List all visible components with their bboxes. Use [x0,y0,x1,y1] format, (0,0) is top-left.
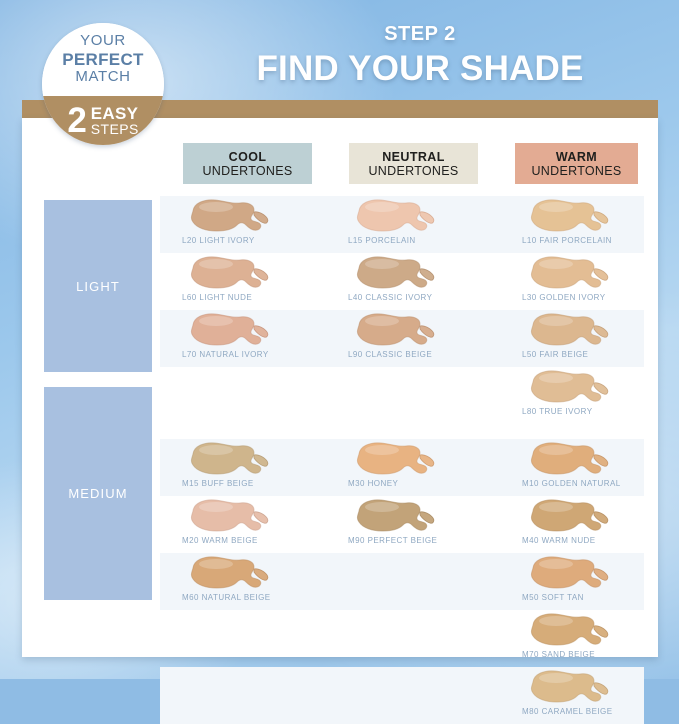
shade-cell: M70 SAND BEIGE [514,610,666,667]
shade-cell: M20 WARM BEIGE [182,496,334,553]
shade-name-label: M30 HONEY [348,479,488,488]
shade-name-label: L10 FAIR PORCELAIN [522,236,662,245]
shade-name-label: M50 SOFT TAN [522,593,662,602]
shade-cell: L70 NATURAL IVORY [182,310,334,367]
shade-cell-empty [182,610,334,667]
shade-name-label: M70 SAND BEIGE [522,650,662,659]
shade-cell: L40 CLASSIC IVORY [348,253,500,310]
shade-cell: L50 FAIR BEIGE [514,310,666,367]
shade-swatch-icon[interactable] [348,498,444,534]
shade-section-medium: M15 BUFF BEIGEM30 HONEYM10 GOLDEN NATURA… [160,439,644,724]
shade-swatch-icon[interactable] [522,369,618,405]
shade-cell: L30 GOLDEN IVORY [514,253,666,310]
shade-cell: L20 LIGHT IVORY [182,196,334,253]
shade-cell: M80 CARAMEL BEIGE [514,667,666,724]
shade-cell: L80 TRUE IVORY [514,367,666,424]
shade-cell-empty [348,610,500,667]
undertone-header-neutral: NEUTRAL UNDERTONES [349,143,478,184]
shade-swatch-icon[interactable] [182,255,278,291]
shade-cell: M40 WARM NUDE [514,496,666,553]
title-block: STEP 2 FIND YOUR SHADE [180,24,660,88]
shade-name-label: M15 BUFF BEIGE [182,479,322,488]
shade-grid: L20 LIGHT IVORYL15 PORCELAINL10 FAIR POR… [160,196,644,724]
undertone-header-warm: WARM UNDERTONES [515,143,638,184]
shade-name-label: M10 GOLDEN NATURAL [522,479,662,488]
step-label: STEP 2 [180,24,660,44]
badge-top-half: YOUR PERFECT MATCH [42,23,164,96]
shade-name-label: M40 WARM NUDE [522,536,662,545]
shade-cell: M15 BUFF BEIGE [182,439,334,496]
shade-swatch-icon[interactable] [522,498,618,534]
undertone-name-warm: WARM [556,150,597,164]
badge-step-number: 2 [67,103,86,138]
shade-cell-empty [182,667,334,724]
shade-cell: L90 CLASSIC BEIGE [348,310,500,367]
shade-cell: M10 GOLDEN NATURAL [514,439,666,496]
shade-cell: M90 PERFECT BEIGE [348,496,500,553]
perfect-match-badge: YOUR PERFECT MATCH 2 EASY STEPS [42,23,164,145]
shade-swatch-icon[interactable] [348,255,444,291]
shade-name-label: L30 GOLDEN IVORY [522,293,662,302]
shade-name-label: L15 PORCELAIN [348,236,488,245]
badge-bottom-half: 2 EASY STEPS [42,96,164,145]
shade-swatch-icon[interactable] [522,555,618,591]
shade-swatch-icon[interactable] [522,198,618,234]
shade-cell: L10 FAIR PORCELAIN [514,196,666,253]
shade-cell: M30 HONEY [348,439,500,496]
shade-swatch-icon[interactable] [522,441,618,477]
shade-swatch-icon[interactable] [182,498,278,534]
badge-steps-stack: EASY STEPS [91,105,139,137]
shade-name-label: L60 LIGHT NUDE [182,293,322,302]
shade-swatch-icon[interactable] [182,441,278,477]
shade-name-label: L70 NATURAL IVORY [182,350,322,359]
shade-swatch-icon[interactable] [348,198,444,234]
undertone-name-cool: COOL [229,150,267,164]
shade-cell-empty [182,367,334,424]
shade-cell: L15 PORCELAIN [348,196,500,253]
badge-line-perfect: PERFECT [62,50,143,69]
shade-cell: L60 LIGHT NUDE [182,253,334,310]
shade-name-label: M20 WARM BEIGE [182,536,322,545]
shade-row: L60 LIGHT NUDEL40 CLASSIC IVORYL30 GOLDE… [160,253,644,310]
shade-row: M20 WARM BEIGEM90 PERFECT BEIGEM40 WARM … [160,496,644,553]
shade-swatch-icon[interactable] [348,441,444,477]
page-title: FIND YOUR SHADE [180,49,660,88]
shade-swatch-icon[interactable] [522,612,618,648]
shade-swatch-icon[interactable] [522,312,618,348]
undertone-name-neutral: NEUTRAL [382,150,445,164]
shade-name-label: M80 CARAMEL BEIGE [522,707,662,716]
badge-steps-label: STEPS [91,122,139,136]
shade-cell-empty [348,553,500,610]
shade-cell: M60 NATURAL BEIGE [182,553,334,610]
undertone-sub-cool: UNDERTONES [202,164,292,178]
shade-cell-empty [348,367,500,424]
undertone-sub-warm: UNDERTONES [531,164,621,178]
badge-line-your: YOUR [80,33,126,50]
badge-easy-label: EASY [91,105,139,122]
shade-row: L20 LIGHT IVORYL15 PORCELAINL10 FAIR POR… [160,196,644,253]
shade-swatch-icon[interactable] [348,312,444,348]
shade-name-label: L90 CLASSIC BEIGE [348,350,488,359]
shade-row: M15 BUFF BEIGEM30 HONEYM10 GOLDEN NATURA… [160,439,644,496]
section-gap [160,424,644,439]
shade-name-label: L20 LIGHT IVORY [182,236,322,245]
shade-cell-empty [348,667,500,724]
shade-row: M60 NATURAL BEIGEM50 SOFT TAN [160,553,644,610]
shade-row: L70 NATURAL IVORYL90 CLASSIC BEIGEL50 FA… [160,310,644,367]
shade-row: M70 SAND BEIGE [160,610,644,667]
shade-section-light: L20 LIGHT IVORYL15 PORCELAINL10 FAIR POR… [160,196,644,424]
shade-name-label: L50 FAIR BEIGE [522,350,662,359]
shade-row: L80 TRUE IVORY [160,367,644,424]
undertone-sub-neutral: UNDERTONES [368,164,458,178]
shade-swatch-icon[interactable] [182,198,278,234]
shade-cell: M50 SOFT TAN [514,553,666,610]
shade-swatch-icon[interactable] [522,255,618,291]
tone-block-light: LIGHT [44,200,152,372]
shade-swatch-icon[interactable] [182,555,278,591]
undertone-header-cool: COOL UNDERTONES [183,143,312,184]
shade-name-label: L80 TRUE IVORY [522,407,662,416]
shade-name-label: M90 PERFECT BEIGE [348,536,488,545]
shade-row: M80 CARAMEL BEIGE [160,667,644,724]
shade-swatch-icon[interactable] [182,312,278,348]
tone-block-medium: MEDIUM [44,387,152,600]
shade-name-label: M60 NATURAL BEIGE [182,593,322,602]
shade-name-label: L40 CLASSIC IVORY [348,293,488,302]
badge-line-match: MATCH [75,69,130,86]
shade-swatch-icon[interactable] [522,669,618,705]
